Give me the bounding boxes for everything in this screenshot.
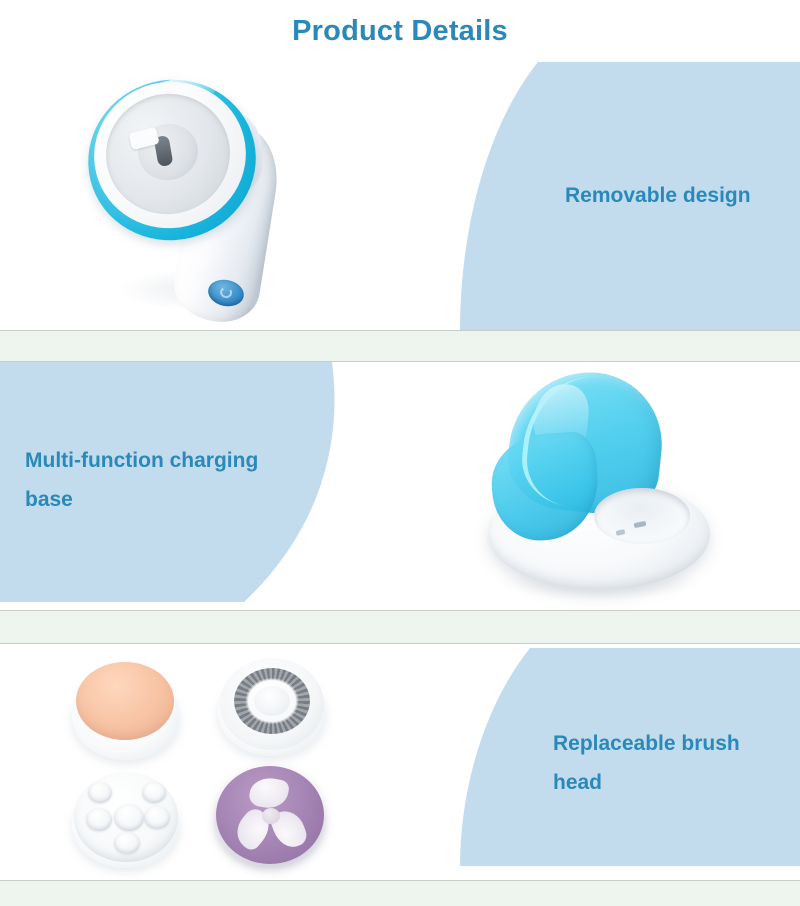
caption-text-removable-design: Removable design <box>460 177 751 216</box>
daily-cleansing-brush-head <box>216 654 328 758</box>
caption-panel-charging-base: Multi-function charging base <box>0 362 360 610</box>
section-divider-3 <box>0 880 800 906</box>
facial-cleansing-brush-graphic <box>80 74 330 324</box>
sponge-puff-head <box>70 658 182 762</box>
silicone-nub-top-left <box>88 782 112 803</box>
product-details-page: Product Details Removable design <box>0 0 800 906</box>
silicone-nub-top-right <box>142 782 166 803</box>
exfoliating-brush-head <box>214 764 326 868</box>
caption-panel-removable-design: Removable design <box>460 62 800 330</box>
exfoliating-brush-head-fringe <box>212 762 324 864</box>
silicone-nub-center <box>114 804 144 831</box>
page-title: Product Details <box>292 15 508 48</box>
caption-panel-replaceable-brush-head: Replaceable brush head <box>460 648 800 880</box>
sponge-puff-head-surface <box>76 662 174 740</box>
daily-cleansing-brush-head-core <box>254 686 290 716</box>
section-divider-2 <box>0 610 800 644</box>
caption-text-replaceable-brush-head: Replaceable brush head <box>460 725 740 803</box>
silicone-nub-bottom <box>114 832 140 854</box>
charging-base-cradle-well <box>594 488 690 544</box>
brush-head-grid <box>58 654 358 878</box>
section-divider-1 <box>0 330 800 362</box>
section-removable-design: Removable design <box>0 62 800 330</box>
facial-cleansing-brush-device-image <box>60 62 360 330</box>
silicone-nub-right <box>144 806 170 829</box>
caption-text-charging-base: Multi-function charging base <box>0 442 258 530</box>
charging-base-graphic <box>466 370 736 600</box>
replaceable-brush-heads-image <box>40 648 370 880</box>
silicone-massage-head <box>70 766 182 870</box>
section-charging-base: Multi-function charging base <box>0 362 800 610</box>
section-replaceable-brush-head: Replaceable brush head <box>0 648 800 880</box>
multi-function-charging-base-image <box>440 362 760 610</box>
silicone-massage-head-surface <box>74 772 178 862</box>
silicone-nub-left <box>86 808 112 831</box>
page-title-bar: Product Details <box>0 0 800 62</box>
